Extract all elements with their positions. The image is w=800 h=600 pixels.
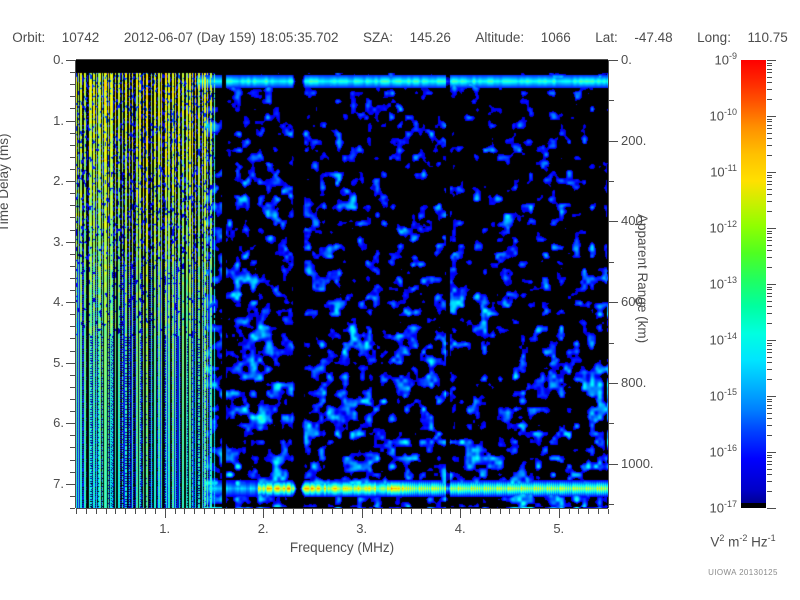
x-axis-minor-tick: [76, 509, 77, 514]
colorbar-minor-tick: [767, 240, 772, 241]
y-axis-tick-label: 5.: [24, 355, 64, 370]
y-axis-minor-tick: [70, 108, 75, 109]
x-axis-minor-tick: [312, 509, 313, 514]
colorbar-minor-tick: [767, 99, 772, 100]
y-axis-major-tick: [66, 363, 75, 364]
x-axis-minor-tick: [578, 509, 579, 514]
colorbar-minor-tick: [767, 469, 772, 470]
colorbar-tick-label: 10-13: [683, 275, 737, 291]
colorbar-tick-label: 10-16: [683, 443, 737, 459]
x-axis-minor-tick: [598, 509, 599, 514]
y-axis-major-tick: [66, 423, 75, 424]
y-axis-minor-tick: [70, 169, 75, 170]
colorbar-minor-tick: [767, 133, 772, 134]
x-axis-minor-tick: [588, 509, 589, 514]
x-axis-tick-label: 2.: [243, 521, 283, 536]
x-axis-minor-tick: [125, 509, 126, 514]
x-axis-minor-tick: [332, 509, 333, 514]
y2-axis-minor-tick: [609, 100, 614, 101]
x-axis-minor-tick: [155, 509, 156, 514]
y-axis-tick-label: 0.: [24, 52, 64, 67]
x-axis-minor-tick: [303, 509, 304, 514]
sza-value: 145.26: [410, 30, 451, 45]
x-axis-minor-tick: [342, 509, 343, 514]
y-axis-minor-tick: [70, 157, 75, 158]
colorbar-minor-tick: [767, 177, 772, 178]
colorbar-minor-tick: [767, 119, 772, 120]
observation-datetime: 2012-06-07 (Day 159) 18:05:35.702: [124, 30, 339, 45]
y2-axis-major-tick: [609, 221, 618, 222]
y-axis-minor-tick: [70, 254, 75, 255]
colorbar-minor-tick: [767, 362, 772, 363]
y2-axis-minor-tick: [609, 504, 614, 505]
y2-axis-tick-label: 200.: [621, 133, 681, 148]
y-axis-tick-label: 1.: [24, 113, 64, 128]
longitude-label: Long:: [697, 30, 731, 45]
y-axis-minor-tick: [70, 314, 75, 315]
colorbar-minor-tick: [767, 399, 772, 400]
x-axis-minor-tick: [480, 509, 481, 514]
colorbar-underflow-cap: [741, 503, 766, 508]
colorbar-minor-tick: [767, 250, 772, 251]
colorbar-minor-tick: [767, 405, 772, 406]
y-axis-tick-label: 4.: [24, 294, 64, 309]
x-axis-minor-tick: [283, 509, 284, 514]
x-axis-minor-tick: [253, 509, 254, 514]
y2-axis-minor-tick: [609, 423, 614, 424]
y-axis-major-tick: [66, 302, 75, 303]
x-axis-minor-tick: [549, 509, 550, 514]
y2-axis-tick-label: 800.: [621, 375, 681, 390]
y2-axis-minor-tick: [609, 343, 614, 344]
colorbar-minor-tick: [767, 145, 772, 146]
x-axis-minor-tick: [273, 509, 274, 514]
x-axis-minor-tick: [86, 509, 87, 514]
colorbar-gradient: [741, 60, 766, 508]
y-axis-minor-tick: [70, 351, 75, 352]
colorbar-minor-tick: [767, 491, 772, 492]
x-axis-major-tick: [362, 509, 363, 518]
colorbar-major-tick: [767, 116, 776, 117]
x-axis-minor-tick: [214, 509, 215, 514]
x-axis-minor-tick: [411, 509, 412, 514]
colorbar-major-tick: [767, 340, 776, 341]
x-axis-minor-tick: [372, 509, 373, 514]
colorbar-minor-tick: [767, 474, 772, 475]
x-axis-tick-label: 3.: [342, 521, 382, 536]
x-axis-minor-tick: [115, 509, 116, 514]
y-axis-minor-tick: [70, 290, 75, 291]
y-axis-minor-tick: [70, 84, 75, 85]
x-axis-minor-tick: [431, 509, 432, 514]
colorbar-minor-tick: [767, 289, 772, 290]
y-axis-left-line: [75, 60, 76, 508]
colorbar-minor-tick: [767, 357, 772, 358]
colorbar-minor-tick: [767, 194, 772, 195]
colorbar-minor-tick: [767, 323, 772, 324]
y-axis-minor-tick: [70, 217, 75, 218]
colorbar-minor-tick: [767, 345, 772, 346]
colorbar-units-label: V2 m-2 Hz-1: [686, 533, 800, 550]
colorbar-minor-tick: [767, 89, 772, 90]
colorbar-minor-tick: [767, 181, 772, 182]
colorbar-tick-label: 10-12: [683, 219, 737, 235]
sza-label: SZA:: [363, 30, 393, 45]
y2-axis-major-tick: [609, 383, 618, 384]
colorbar-minor-tick: [767, 184, 772, 185]
y-axis-minor-tick: [70, 508, 75, 509]
x-axis-minor-tick: [194, 509, 195, 514]
y-axis-minor-tick: [70, 266, 75, 267]
colorbar-minor-tick: [767, 464, 772, 465]
y-axis-tick-label: 6.: [24, 415, 64, 430]
x-axis-minor-tick: [519, 509, 520, 514]
colorbar-minor-tick: [767, 435, 772, 436]
x-axis-minor-tick: [234, 509, 235, 514]
colorbar-minor-tick: [767, 408, 772, 409]
y-axis-minor-tick: [70, 411, 75, 412]
x-axis-minor-tick: [450, 509, 451, 514]
x-axis-minor-tick: [135, 509, 136, 514]
colorbar-minor-tick: [767, 455, 772, 456]
orbit-value: 10742: [62, 30, 100, 45]
longitude-value: 110.75: [747, 30, 787, 45]
credit-label: UIOWA 20130125: [686, 568, 800, 577]
y-axis-minor-tick: [70, 472, 75, 473]
x-axis-minor-tick: [145, 509, 146, 514]
colorbar-minor-tick: [767, 128, 772, 129]
colorbar-minor-tick: [767, 69, 772, 70]
x-axis-minor-tick: [243, 509, 244, 514]
colorbar-minor-tick: [767, 287, 772, 288]
y-axis-minor-tick: [70, 496, 75, 497]
altitude-value: 1066: [541, 30, 571, 45]
colorbar-minor-tick: [767, 418, 772, 419]
colorbar-minor-tick: [767, 313, 772, 314]
colorbar-major-tick: [767, 228, 776, 229]
colorbar-tick-label: 10-9: [683, 51, 737, 67]
x-axis-minor-tick: [224, 509, 225, 514]
x-axis-minor-tick: [381, 509, 382, 514]
colorbar-tick-label: 10-15: [683, 387, 737, 403]
y-axis-minor-tick: [70, 387, 75, 388]
colorbar-major-tick: [767, 508, 776, 509]
x-axis-minor-tick: [106, 509, 107, 514]
y-axis-minor-tick: [70, 435, 75, 436]
colorbar-minor-tick: [767, 369, 772, 370]
y-axis-minor-tick: [70, 230, 75, 231]
y2-axis-major-tick: [609, 302, 618, 303]
colorbar-minor-tick: [767, 296, 772, 297]
colorbar: [741, 60, 766, 508]
x-axis-minor-tick: [401, 509, 402, 514]
colorbar-minor-tick: [767, 481, 772, 482]
latitude-value: -47.48: [634, 30, 672, 45]
colorbar-minor-tick: [767, 413, 772, 414]
x-axis-minor-tick: [509, 509, 510, 514]
y2-axis-tick-label: 600.: [621, 294, 681, 309]
x-axis-tick-label: 4.: [440, 521, 480, 536]
x-axis-tick-label: 1.: [145, 521, 185, 536]
x-axis-major-tick: [460, 509, 461, 518]
y-axis-right-line: [608, 60, 609, 508]
y-axis-minor-tick: [70, 447, 75, 448]
colorbar-minor-tick: [767, 301, 772, 302]
colorbar-minor-tick: [767, 72, 772, 73]
x-axis-minor-tick: [391, 509, 392, 514]
colorbar-tick-label: 10-14: [683, 331, 737, 347]
y-axis-minor-tick: [70, 145, 75, 146]
x-axis-minor-tick: [569, 509, 570, 514]
y-axis-major-tick: [66, 242, 75, 243]
y-axis-minor-tick: [70, 326, 75, 327]
x-axis-major-tick: [559, 509, 560, 518]
colorbar-minor-tick: [767, 461, 772, 462]
y-axis-minor-tick: [70, 205, 75, 206]
colorbar-minor-tick: [767, 343, 772, 344]
colorbar-tick-label: 10-11: [683, 163, 737, 179]
colorbar-minor-tick: [767, 306, 772, 307]
colorbar-minor-tick: [767, 121, 772, 122]
x-axis-minor-tick: [608, 509, 609, 514]
colorbar-major-tick: [767, 284, 776, 285]
colorbar-minor-tick: [767, 245, 772, 246]
colorbar-major-tick: [767, 60, 776, 61]
colorbar-minor-tick: [767, 293, 772, 294]
y-axis-minor-tick: [70, 338, 75, 339]
x-axis-minor-tick: [204, 509, 205, 514]
x-axis-minor-tick: [539, 509, 540, 514]
colorbar-minor-tick: [767, 155, 772, 156]
y2-axis-major-tick: [609, 60, 618, 61]
x-axis-minor-tick: [470, 509, 471, 514]
x-axis-major-tick: [165, 509, 166, 518]
x-axis-top-line: [76, 59, 608, 60]
colorbar-minor-tick: [767, 457, 772, 458]
colorbar-major-tick: [767, 396, 776, 397]
x-axis-tick-label: 5.: [539, 521, 579, 536]
x-axis-minor-tick: [322, 509, 323, 514]
header-info-line: Orbit: 10742 2012-06-07 (Day 159) 18:05:…: [0, 30, 800, 45]
ionogram-plot-area: [76, 60, 608, 508]
latitude-label: Lat:: [595, 30, 618, 45]
colorbar-minor-tick: [767, 63, 772, 64]
y-axis-tick-label: 3.: [24, 234, 64, 249]
y-axis-minor-tick: [70, 133, 75, 134]
y-axis-minor-tick: [70, 96, 75, 97]
y2-axis-tick-label: 400.: [621, 213, 681, 228]
ionogram-heatmap-canvas: [76, 60, 608, 508]
colorbar-minor-tick: [767, 65, 772, 66]
y-axis-major-tick: [66, 181, 75, 182]
x-axis-minor-tick: [529, 509, 530, 514]
y-axis-minor-tick: [70, 278, 75, 279]
colorbar-minor-tick: [767, 231, 772, 232]
y2-axis-major-tick: [609, 464, 618, 465]
y-axis-minor-tick: [70, 375, 75, 376]
y2-axis-minor-tick: [609, 262, 614, 263]
y2-axis-minor-tick: [609, 181, 614, 182]
colorbar-minor-tick: [767, 138, 772, 139]
colorbar-minor-tick: [767, 82, 772, 83]
colorbar-minor-tick: [767, 267, 772, 268]
y-axis-major-tick: [66, 60, 75, 61]
colorbar-minor-tick: [767, 175, 772, 176]
colorbar-major-tick: [767, 172, 776, 173]
colorbar-minor-tick: [767, 189, 772, 190]
y-axis-minor-tick: [70, 460, 75, 461]
colorbar-minor-tick: [767, 425, 772, 426]
x-axis-minor-tick: [352, 509, 353, 514]
colorbar-minor-tick: [767, 77, 772, 78]
colorbar-tick-label: 10-17: [683, 499, 737, 515]
x-axis-minor-tick: [500, 509, 501, 514]
y-axis-major-tick: [66, 484, 75, 485]
y2-axis-tick-label: 0.: [621, 52, 681, 67]
colorbar-tick-label: 10-10: [683, 107, 737, 123]
colorbar-major-tick: [767, 452, 776, 453]
colorbar-minor-tick: [767, 201, 772, 202]
y-axis-minor-tick: [70, 72, 75, 73]
y-axis-minor-tick: [70, 399, 75, 400]
x-axis-minor-tick: [421, 509, 422, 514]
x-axis-minor-tick: [184, 509, 185, 514]
altitude-label: Altitude:: [475, 30, 524, 45]
colorbar-minor-tick: [767, 211, 772, 212]
colorbar-minor-tick: [767, 257, 772, 258]
colorbar-minor-tick: [767, 233, 772, 234]
y-axis-title: Time Delay (ms): [0, 133, 11, 232]
y-axis-minor-tick: [70, 193, 75, 194]
x-axis-minor-tick: [175, 509, 176, 514]
x-axis-title: Frequency (MHz): [0, 540, 684, 555]
y-axis-major-tick: [66, 121, 75, 122]
colorbar-minor-tick: [767, 125, 772, 126]
x-axis-major-tick: [263, 509, 264, 518]
y-axis-tick-label: 7.: [24, 476, 64, 491]
colorbar-minor-tick: [767, 379, 772, 380]
colorbar-minor-tick: [767, 349, 772, 350]
y2-axis-title: Apparent Range (km): [635, 214, 650, 343]
x-axis-minor-tick: [293, 509, 294, 514]
x-axis-minor-tick: [441, 509, 442, 514]
orbit-label: Orbit:: [12, 30, 45, 45]
colorbar-minor-tick: [767, 352, 772, 353]
colorbar-minor-tick: [767, 237, 772, 238]
y2-axis-major-tick: [609, 141, 618, 142]
colorbar-minor-tick: [767, 401, 772, 402]
y-axis-tick-label: 2.: [24, 173, 64, 188]
x-axis-minor-tick: [96, 509, 97, 514]
x-axis-minor-tick: [490, 509, 491, 514]
y2-axis-tick-label: 1000.: [621, 456, 681, 471]
